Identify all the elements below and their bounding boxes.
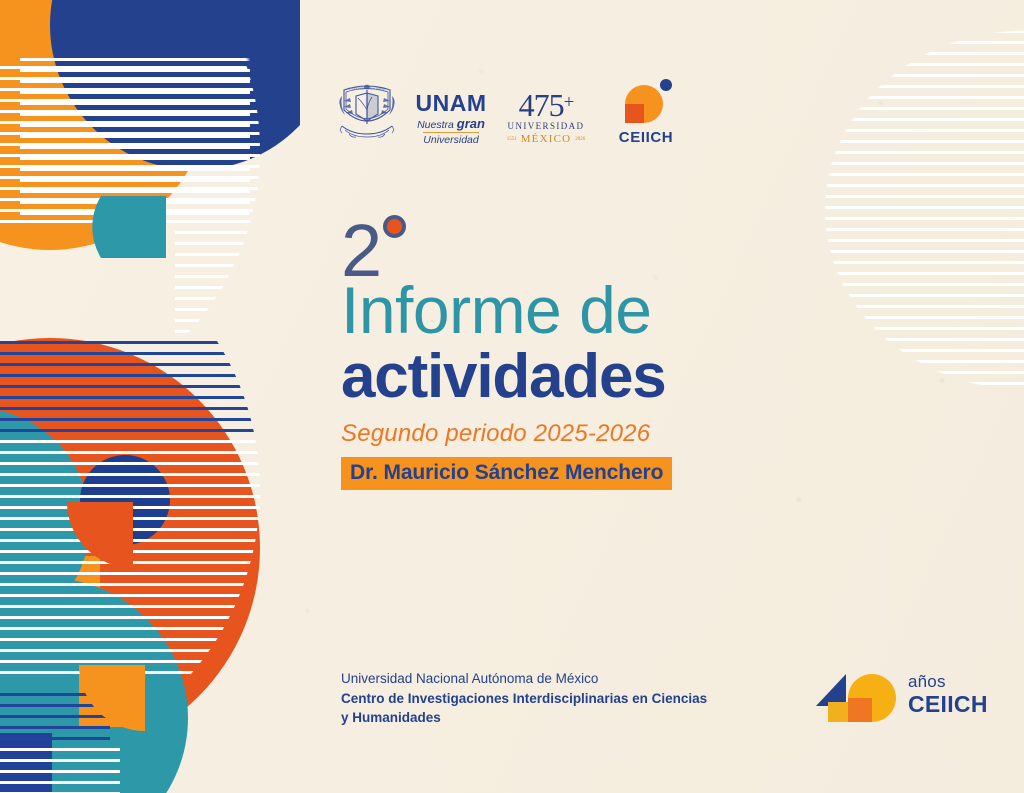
anniversary-40-badge: años CEIICH: [812, 668, 1002, 730]
n475-digits: 475: [519, 87, 564, 123]
footer-line-center-2: y Humanidades: [341, 708, 761, 728]
footer-line-university: Universidad Nacional Autónoma de México: [341, 669, 761, 689]
unam-tagline-part1: Nuestra: [417, 119, 457, 131]
institution-footer: Universidad Nacional Autónoma de México …: [341, 669, 761, 728]
unam-wordmark: UNAM Nuestra gran Universidad: [414, 93, 488, 146]
cover-content: UNIVERSIDAD NACIONAL UNAM Nuestra gran U…: [0, 0, 1024, 793]
unam-tagline-gran: gran: [457, 116, 485, 131]
unam-shield-icon: UNIVERSIDAD NACIONAL: [336, 76, 398, 146]
anniversary-475-line2: 1551 MÉXICO 2026: [506, 133, 586, 146]
anniversary-475-year-right: 2026: [575, 137, 585, 142]
degree-symbol-icon: [383, 215, 406, 238]
ceiich-wordmark: CEIICH: [610, 129, 682, 146]
unam-tagline-part2: Universidad: [423, 132, 478, 146]
n475-plus: +: [564, 92, 574, 113]
title-period: Segundo periodo 2025-2026: [341, 420, 901, 448]
ceiich-mark-icon: [616, 78, 676, 126]
anniversary-475-number: 475+: [506, 89, 586, 121]
title-block: 2 Informe de actividades Segundo periodo…: [341, 215, 901, 490]
anniversary-475-logo: 475+ UNIVERSIDAD 1551 MÉXICO 2026: [506, 89, 586, 146]
unam-wordmark-main: UNAM: [414, 93, 488, 115]
institution-logo-row: UNIVERSIDAD NACIONAL UNAM Nuestra gran U…: [336, 66, 686, 146]
anniversary-475-line1: UNIVERSIDAD: [506, 121, 586, 133]
title-ordinal: 2: [341, 217, 381, 285]
author-name-badge: Dr. Mauricio Sánchez Menchero: [341, 457, 672, 490]
unam-wordmark-tagline: Nuestra gran Universidad: [414, 117, 488, 146]
anniversary-40-label: años CEIICH: [908, 672, 988, 717]
svg-text:UNIVERSIDAD NACIONAL: UNIVERSIDAD NACIONAL: [349, 87, 386, 91]
cover-page: UNIVERSIDAD NACIONAL UNAM Nuestra gran U…: [0, 0, 1024, 793]
anniversary-40-anos: años: [908, 672, 988, 692]
title-line-informe: Informe de: [341, 277, 901, 344]
title-line-actividades: actividades: [341, 346, 901, 408]
ceiich-logo: CEIICH: [610, 78, 682, 146]
anniversary-475-mexico: MÉXICO: [521, 133, 572, 145]
anniversary-40-mark-icon: [812, 670, 898, 726]
anniversary-475-year-left: 1551: [507, 137, 517, 142]
anniversary-40-ceiich: CEIICH: [908, 692, 988, 717]
footer-line-center-1: Centro de Investigaciones Interdisciplin…: [341, 689, 761, 709]
